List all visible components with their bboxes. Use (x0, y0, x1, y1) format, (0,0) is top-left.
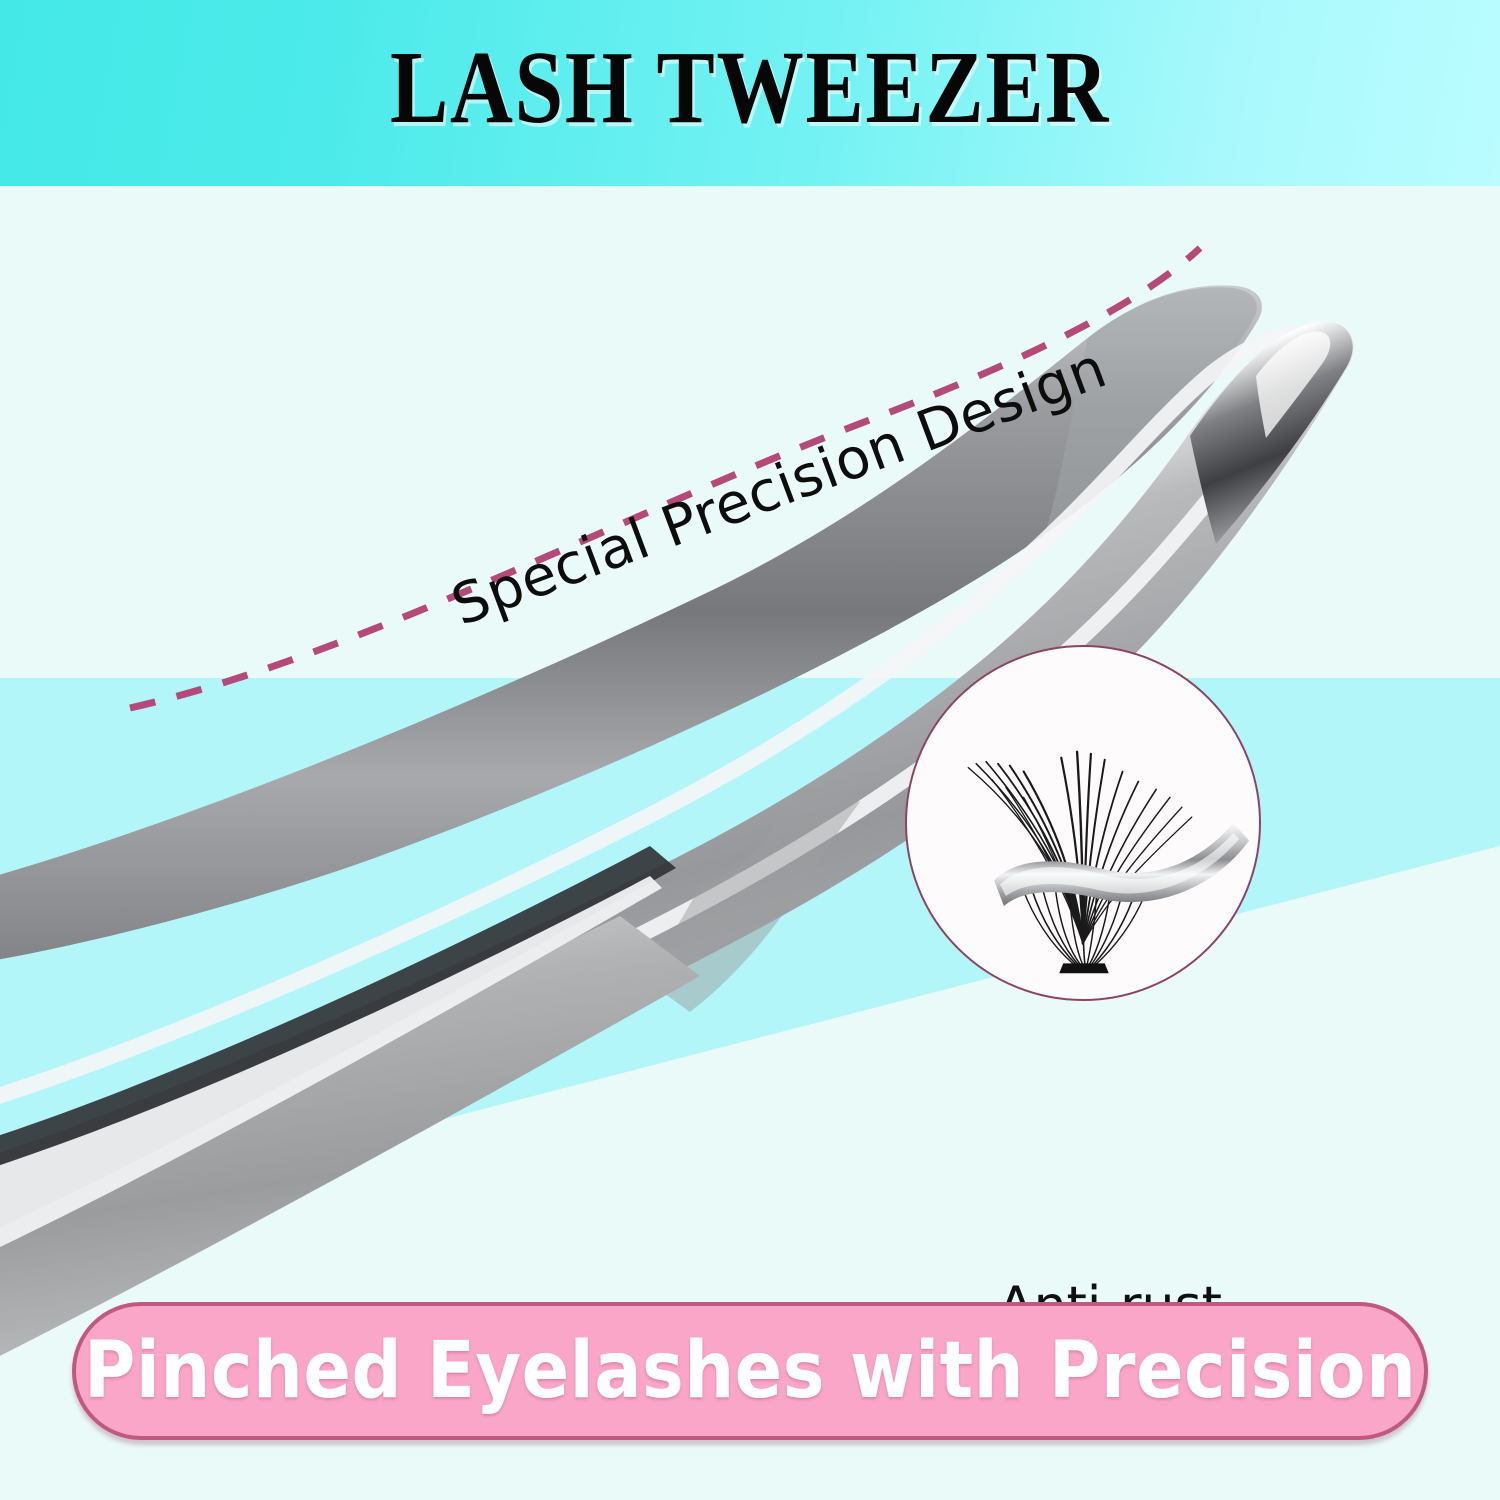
lash-base (1059, 963, 1108, 973)
page-title: LASH TWEEZER (120, 36, 1380, 140)
header-banner: LASH TWEEZER (0, 0, 1500, 186)
product-feature-poster: LASH TWEEZER (0, 0, 1500, 1500)
lash-detail-inset (905, 645, 1261, 1001)
tagline-text: Pinched Eyelashes with Precision (84, 1332, 1416, 1410)
tagline-banner: Pinched Eyelashes with Precision (72, 1302, 1428, 1440)
lash-fan-icon (907, 647, 1259, 999)
lash-fibers-upper (968, 752, 1191, 944)
